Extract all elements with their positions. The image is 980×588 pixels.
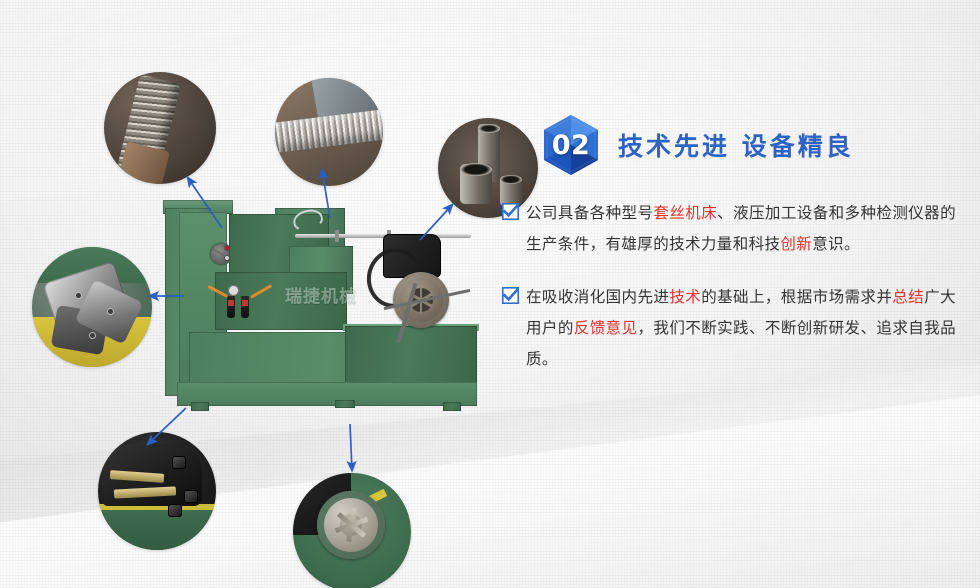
green-threading-machine-photo: 瑞捷机械 (155, 186, 485, 426)
badge-number: 02 (540, 114, 602, 176)
bullet-text-2: 在吸收消化国内先进技术的基础上，根据市场需求并总结广大用户的反馈意见，我们不断实… (526, 282, 956, 375)
bullet-segment-highlight: 创新 (780, 235, 812, 253)
bullet-text-1: 公司具备各种型号套丝机床、液压加工设备和多种检测仪器的生产条件，有雄厚的技术力量… (526, 198, 956, 260)
detail-circle-die-head (32, 247, 152, 367)
bullet-segment: 的基础上，根据市场需求并 (701, 288, 892, 306)
machine-lubricator-bottle-2 (241, 296, 249, 318)
die-head-bolt (76, 293, 81, 298)
handwheel-rim (317, 491, 385, 559)
machine-shaft-collar-1 (335, 230, 339, 242)
banner-stage: 瑞捷机械 (0, 0, 980, 588)
bullet-segment-highlight: 套丝机床 (653, 204, 717, 222)
bullet-segment-highlight: 技术 (669, 288, 701, 306)
die-head-bolt (90, 333, 95, 338)
feature-bullet-list: 公司具备各种型号套丝机床、液压加工设备和多种检测仪器的生产条件，有雄厚的技术力量… (502, 198, 972, 397)
machine-chip-tray (345, 326, 477, 388)
list-item: 在吸收消化国内先进技术的基础上，根据市场需求并总结广大用户的反馈意见，我们不断实… (502, 282, 972, 375)
content-panel: 02 技术先进 设备精良 公司具备各种型号套丝机床、液压加工设备和多种检测仪器的… (500, 0, 980, 588)
checkbox-checked-icon (502, 287, 519, 304)
section-title: 技术先进 设备精良 (618, 127, 854, 163)
fittings-green-backdrop (98, 508, 216, 550)
bullet-segment-highlight: 反馈意见 (574, 319, 638, 337)
detail-circle-thread-bar (275, 78, 383, 186)
machine-foot-center (335, 400, 355, 408)
photo-watermark: 瑞捷机械 (285, 282, 357, 307)
list-item: 公司具备各种型号套丝机床、液压加工设备和多种检测仪器的生产条件，有雄厚的技术力量… (502, 198, 972, 260)
machine-foot-left (191, 402, 209, 411)
bullet-segment: 公司具备各种型号 (526, 204, 653, 222)
section-header: 02 技术先进 设备精良 (540, 114, 854, 176)
fitting-cap-2 (184, 490, 198, 503)
pointer-arrow-to-detail-6 (350, 424, 352, 470)
machine-pressure-gauge-icon (229, 286, 238, 295)
hexagon-badge-icon: 02 (540, 114, 602, 176)
product-photo-area: 瑞捷机械 (0, 0, 520, 588)
machine-plinth (177, 382, 477, 406)
detail-circle-handwheel (293, 473, 411, 588)
checkbox-checked-icon (502, 203, 519, 220)
bullet-segment: 在吸收消化国内先进 (526, 288, 669, 306)
fitting-cap-1 (172, 456, 186, 469)
bullet-segment-highlight: 总结 (892, 288, 924, 306)
machine-foot-right (443, 402, 461, 411)
detail-circle-threaded-rod (104, 72, 216, 184)
die-head-bolt (108, 309, 113, 314)
bullet-segment: 意识。 (812, 235, 860, 253)
fitting-cap-3 (168, 504, 182, 517)
pipe-end-large (460, 164, 492, 204)
detail-circle-hydraulic-fittings (98, 432, 216, 550)
thread-bar-shape (275, 109, 383, 153)
machine-lubricator-bottle-1 (227, 296, 235, 318)
